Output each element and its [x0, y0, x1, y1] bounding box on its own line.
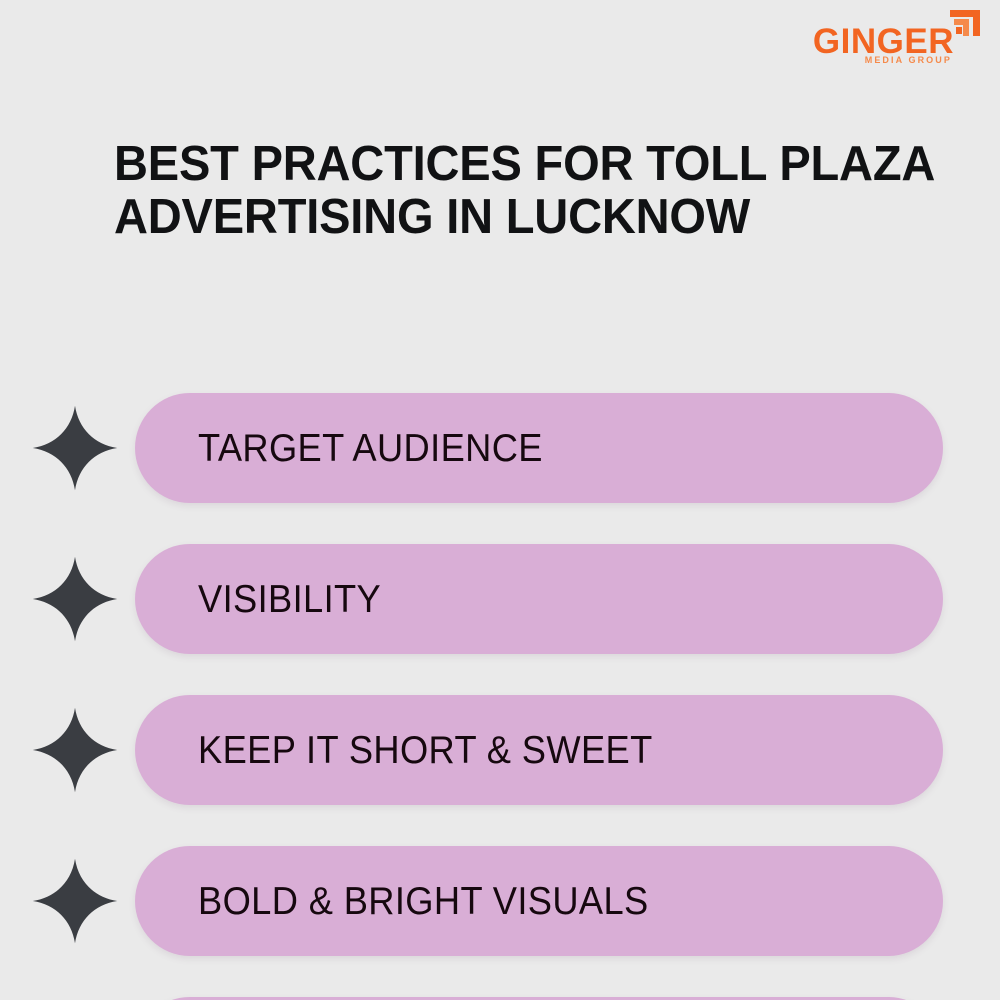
- four-point-sparkle-icon: [31, 404, 119, 492]
- brand-logo: GINGER MEDIA GROUP: [812, 6, 982, 74]
- four-point-sparkle-icon: [31, 555, 119, 643]
- practice-pill[interactable]: VISIBILITY: [135, 544, 943, 654]
- practice-label: TARGET AUDIENCE: [198, 429, 543, 468]
- practice-label: KEEP IT SHORT & SWEET: [198, 731, 653, 770]
- list-item: KEEP IT SHORT & SWEET: [0, 695, 1000, 805]
- brand-tagline: MEDIA GROUP: [865, 56, 952, 65]
- four-point-sparkle-icon: [31, 857, 119, 945]
- page-title-line-2: ADVERTISING IN LUCKNOW: [114, 191, 892, 244]
- page-title-line-1: BEST PRACTICES FOR TOLL PLAZA: [114, 138, 892, 191]
- list-item: BOLD & BRIGHT VISUALS: [0, 846, 1000, 956]
- best-practices-list: TARGET AUDIENCE VISIBILITY KEEP IT SHORT…: [0, 393, 1000, 1000]
- practice-pill[interactable]: BOLD & BRIGHT VISUALS: [135, 846, 943, 956]
- practice-label: BOLD & BRIGHT VISUALS: [198, 882, 649, 921]
- practice-pill[interactable]: KEEP IT SHORT & SWEET: [135, 695, 943, 805]
- list-item: TARGET AUDIENCE: [0, 393, 1000, 503]
- list-item: VISIBILITY: [0, 544, 1000, 654]
- page-title: BEST PRACTICES FOR TOLL PLAZA ADVERTISIN…: [114, 138, 892, 244]
- practice-label: VISIBILITY: [198, 580, 381, 619]
- brand-wordmark: GINGER: [813, 24, 954, 59]
- four-point-sparkle-icon: [31, 706, 119, 794]
- practice-pill[interactable]: TARGET AUDIENCE: [135, 393, 943, 503]
